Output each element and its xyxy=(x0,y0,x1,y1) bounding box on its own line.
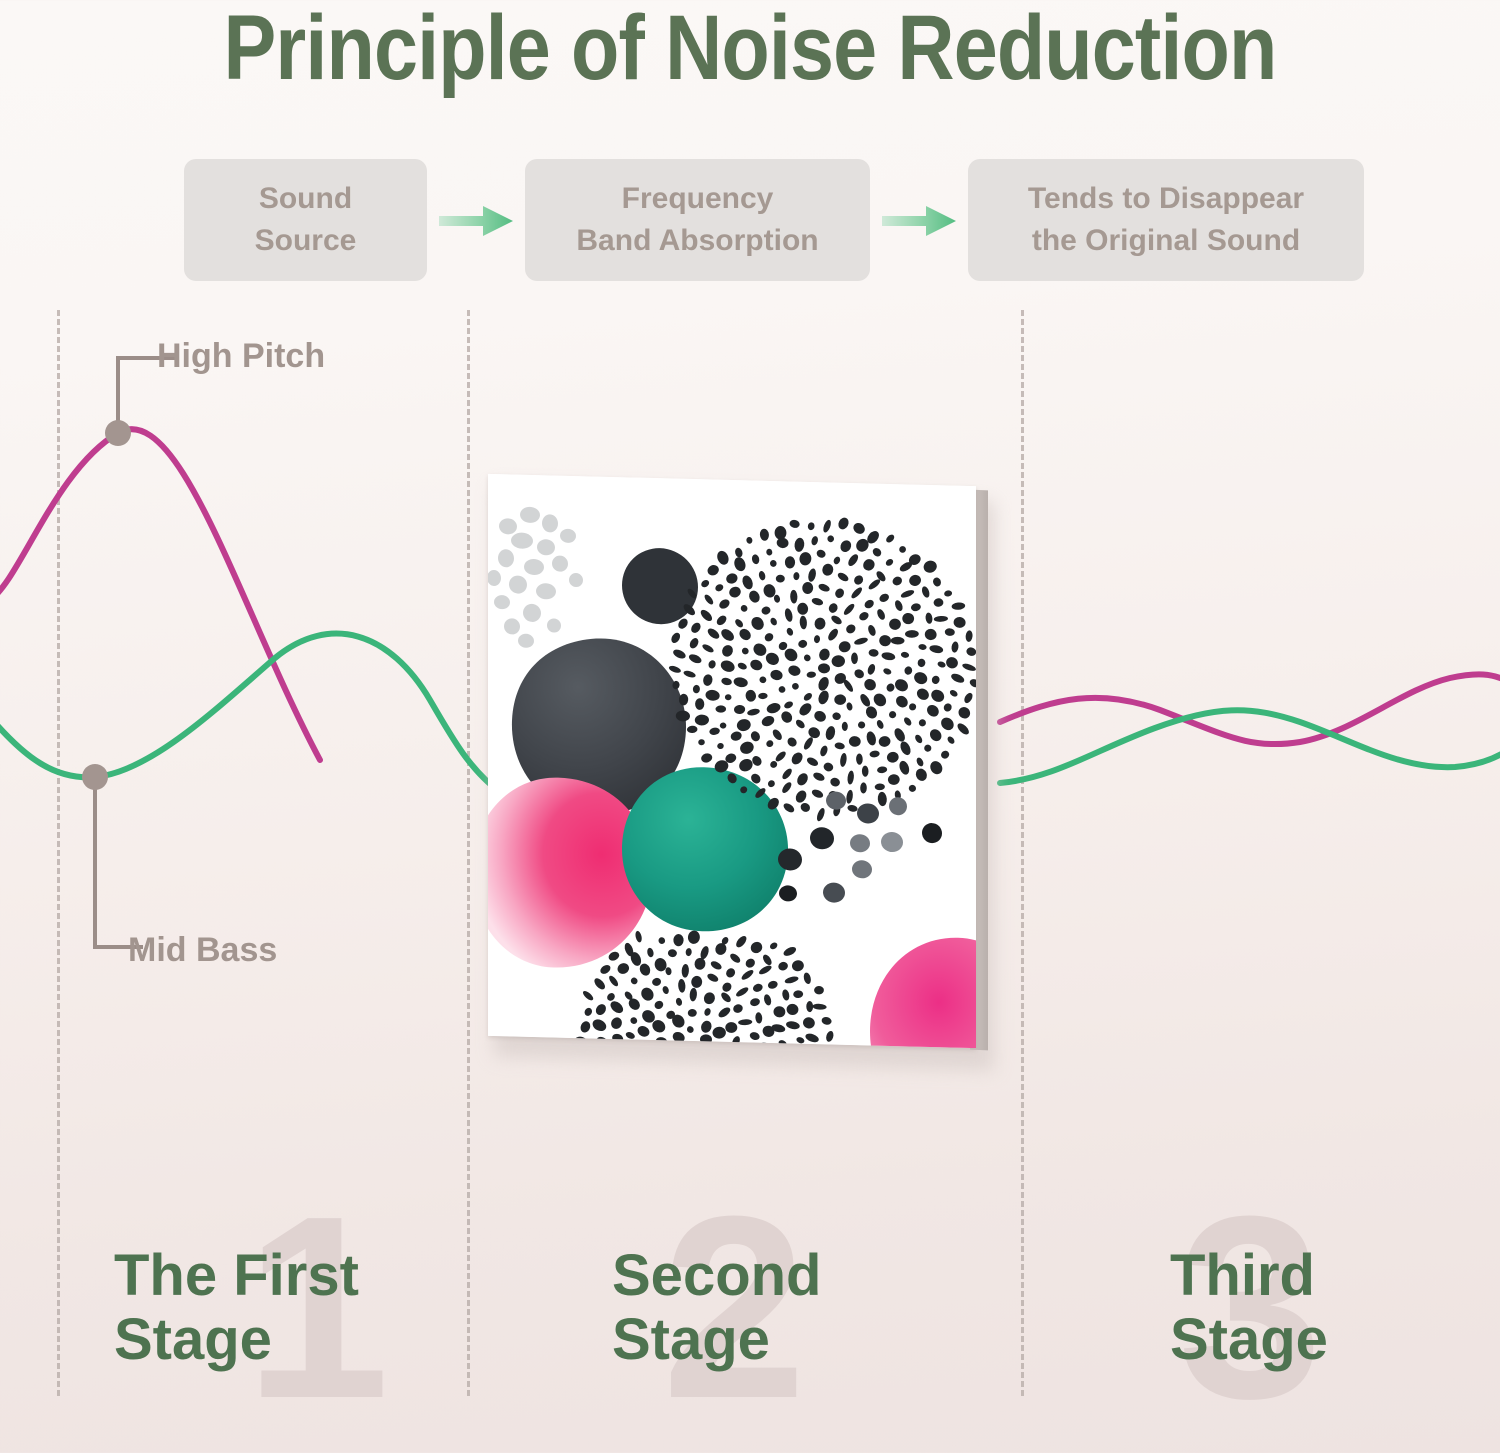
flow-step-line-2: Source xyxy=(255,220,357,262)
flow-step-line-2: the Original Sound xyxy=(1032,220,1300,262)
callout-dot-high-pitch xyxy=(105,420,131,446)
flow-step-tends-to-disappear[interactable]: Tends to Disappear the Original Sound xyxy=(968,159,1364,281)
stage-block-1: 1 The First Stage xyxy=(80,1212,460,1432)
callout-dot-mid-bass xyxy=(82,764,108,790)
flow-step-line-1: Tends to Disappear xyxy=(1028,178,1304,220)
flow-step-line-1: Frequency xyxy=(622,178,774,220)
product-canvas-artwork[interactable] xyxy=(488,480,1000,1105)
flow-step-frequency-band-absorption[interactable]: Frequency Band Absorption xyxy=(525,159,870,281)
page-title: Principle of Noise Reduction xyxy=(105,0,1395,100)
process-flow: Sound Source Frequency Band Absorption T… xyxy=(184,159,1446,281)
callout-label-mid-bass: Mid Bass xyxy=(128,931,277,970)
arrow-right-icon-1 xyxy=(427,159,525,281)
stage-block-3: 3 Third Stage xyxy=(1130,1212,1500,1432)
artwork-svg xyxy=(488,474,976,1048)
flow-step-line-2: Band Absorption xyxy=(576,220,818,262)
wave-mid-bass xyxy=(0,634,500,792)
callout-mid-bass xyxy=(82,764,143,947)
arrow-right-icon-2 xyxy=(870,159,968,281)
flow-step-sound-source[interactable]: Sound Source xyxy=(184,159,427,281)
callout-label-high-pitch: High Pitch xyxy=(157,337,325,376)
wave-high-pitch xyxy=(0,429,320,760)
stage-label-first: The First Stage xyxy=(114,1244,359,1372)
wave-mid-bass-stage3 xyxy=(1000,710,1500,783)
stage-label-second: Second Stage xyxy=(612,1244,822,1372)
flow-step-line-1: Sound xyxy=(259,178,352,220)
stage-label-third: Third Stage xyxy=(1170,1244,1328,1372)
canvas-front-face xyxy=(488,474,976,1048)
stage-block-2: 2 Second Stage xyxy=(580,1212,960,1432)
